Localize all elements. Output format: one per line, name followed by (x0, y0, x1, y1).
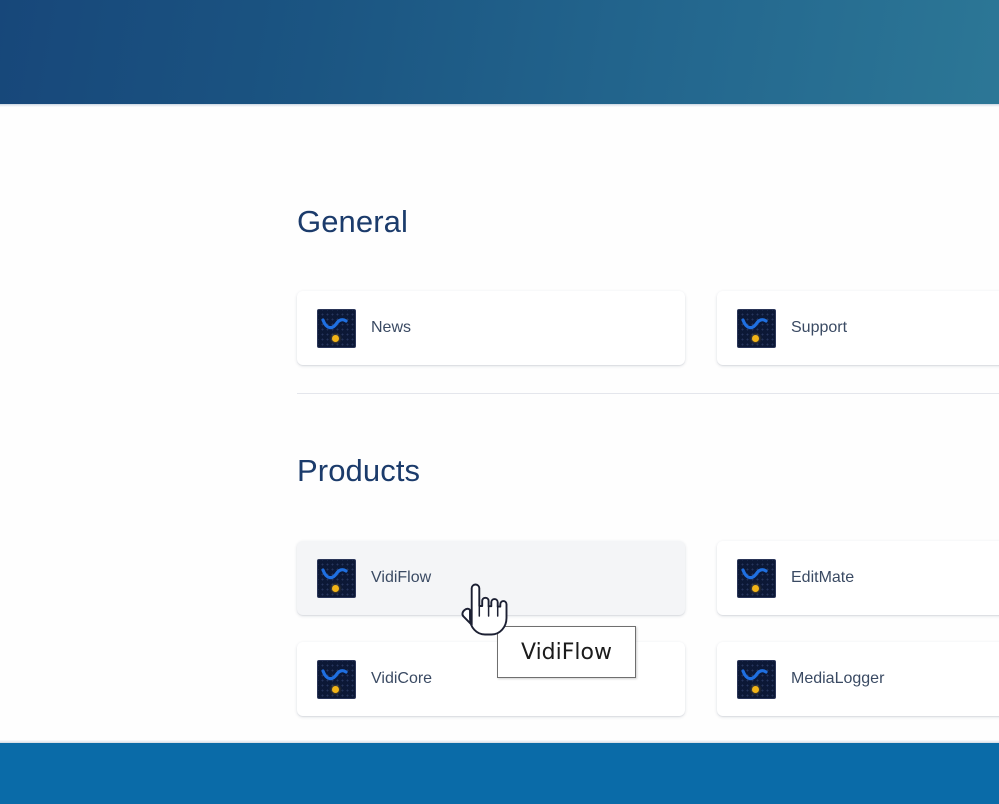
card-news[interactable]: News (297, 291, 685, 365)
icon-gold-dot (752, 335, 759, 342)
vidi-wave-icon (738, 560, 775, 597)
icon-gold-dot (752, 585, 759, 592)
footer-bar (0, 743, 999, 804)
vidi-wave-icon (318, 661, 355, 698)
icon-gold-dot (332, 335, 339, 342)
card-support[interactable]: Support (717, 291, 999, 365)
vidi-wave-icon (738, 661, 775, 698)
card-label: Support (791, 319, 847, 337)
vidi-wave-icon (318, 560, 355, 597)
card-editmate[interactable]: EditMate (717, 541, 999, 615)
app-root: General News Support Product (0, 0, 999, 804)
section-title-products: Products (297, 455, 420, 486)
tooltip-text: VidiFlow (521, 640, 612, 665)
header-banner (0, 0, 999, 104)
vidi-wave-icon (738, 310, 775, 347)
card-medialogger[interactable]: MediaLogger (717, 642, 999, 716)
card-label: VidiCore (371, 670, 432, 688)
card-label: MediaLogger (791, 670, 884, 688)
card-label: News (371, 319, 411, 337)
section-divider (297, 393, 999, 394)
section-title-general: General (297, 206, 408, 237)
icon-gold-dot (332, 585, 339, 592)
icon-gold-dot (332, 686, 339, 693)
card-label: EditMate (791, 569, 854, 587)
card-vidiflow[interactable]: VidiFlow (297, 541, 685, 615)
tooltip: VidiFlow (497, 626, 636, 678)
vidi-wave-icon (318, 310, 355, 347)
icon-gold-dot (752, 686, 759, 693)
card-label: VidiFlow (371, 569, 431, 587)
